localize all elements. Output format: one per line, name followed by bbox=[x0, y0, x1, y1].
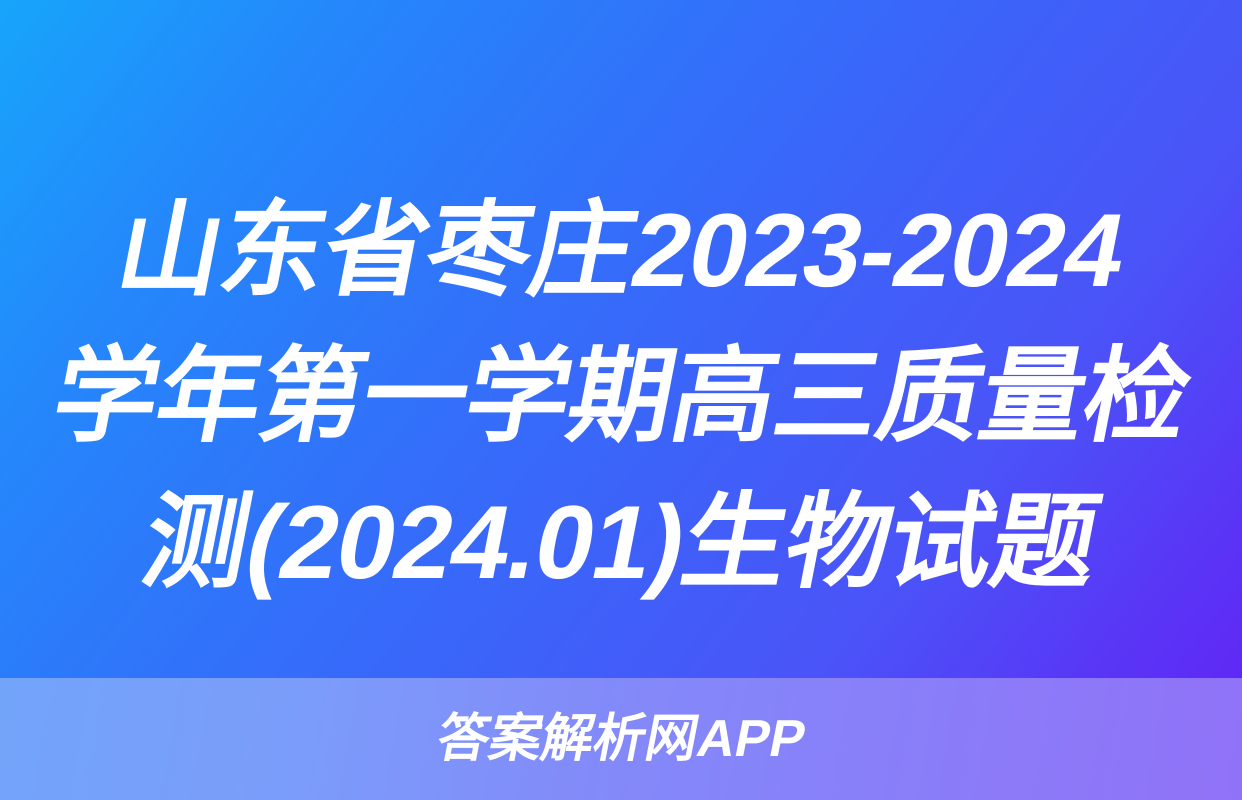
footer-watermark-band: 答案解析网APP bbox=[0, 678, 1242, 800]
title-line-3: 测(2024.01)生物试题 bbox=[131, 470, 1111, 616]
title-line-1: 山东省枣庄2023-2024 bbox=[105, 178, 1137, 324]
poster-canvas: 山东省枣庄2023-2024 学年第一学期高三质量检 测(2024.01)生物试… bbox=[0, 0, 1242, 800]
title-line-2: 学年第一学期高三质量检 bbox=[40, 324, 1201, 470]
poster-title-block: 山东省枣庄2023-2024 学年第一学期高三质量检 测(2024.01)生物试… bbox=[0, 178, 1242, 678]
watermark-label: 答案解析网APP bbox=[432, 713, 809, 765]
